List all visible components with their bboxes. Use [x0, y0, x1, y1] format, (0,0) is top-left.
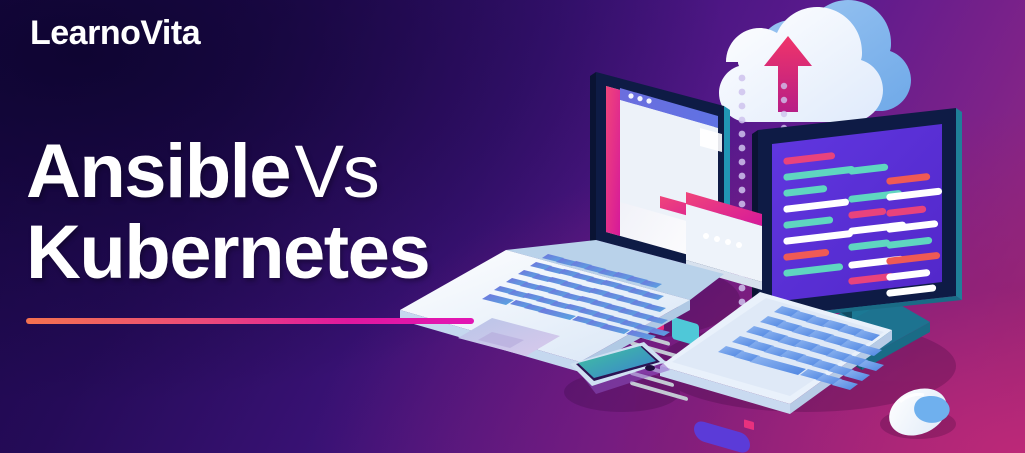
banner-root: LearnoVita Ansible Vs Kubernetes: [0, 0, 1025, 453]
headline-line-2: Kubernetes: [26, 217, 429, 290]
headline-line-1: Ansible Vs: [26, 136, 429, 209]
cloud-upload-icon: [719, 0, 911, 122]
headline-kubernetes: Kubernetes: [26, 210, 429, 295]
logo[interactable]: LearnoVita: [30, 16, 200, 50]
title-underline-rule: [26, 318, 474, 324]
page-title: Ansible Vs Kubernetes: [26, 136, 429, 290]
headline-vs: Vs: [294, 130, 378, 213]
headline-ansible: Ansible: [26, 129, 290, 214]
